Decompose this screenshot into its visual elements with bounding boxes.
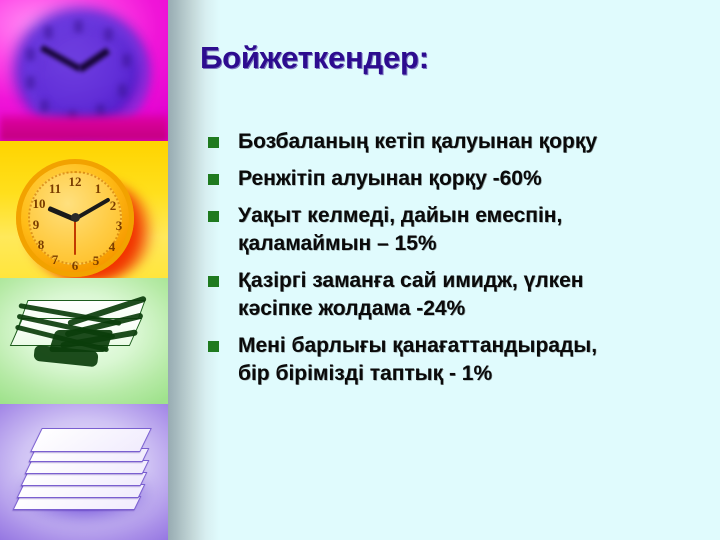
clock-numeral-4: 4 [105,240,119,254]
clock-numeral-6: 6 [68,259,82,273]
paper-sheet-5 [17,484,146,498]
clock-numeral-1: 1 [91,182,105,196]
clock-numeral-5: 5 [89,254,103,268]
green-square-bullet-icon [208,174,219,185]
list-item: Мені барлығы қанағаттандырады, бір бірім… [200,332,704,388]
bullet-list: Бозбаланың кетіп қалуынан қорқу Ренжітіп… [200,128,704,397]
list-item: Қазіргі заманға сай имидж, үлкен кәсіпке… [200,267,704,323]
green-square-bullet-icon [208,137,219,148]
list-item-line-2: бір бірімізді таптық - 1% [238,360,704,388]
list-item: Бозбаланың кетіп қалуынан қорқу [200,128,704,156]
list-item-line-1: Мені барлығы қанағаттандырады, [238,332,704,360]
green-square-bullet-icon [208,276,219,287]
clock-numeral-8: 8 [34,238,48,252]
paper-sheet-3 [25,460,150,474]
list-item-line-2: қаламаймын – 15% [238,230,704,258]
list-item-line-1: Уақыт келмеді, дайын емеспін, [238,202,704,230]
page-title: Бойжеткендер: [200,40,700,76]
clock-numeral-3: 3 [112,219,126,233]
clock-numeral-10: 10 [32,197,46,211]
photo-strip: 12 1 2 3 4 5 6 7 8 9 10 11 [0,0,168,540]
clock-numeral-9: 9 [29,218,43,232]
clock-numeral-7: 7 [48,253,62,267]
list-item-line-1: Ренжітіп алуынан қорқу -60% [238,165,704,193]
slide-canvas: 12 1 2 3 4 5 6 7 8 9 10 11 [0,0,720,540]
paper-sheet-1 [30,428,152,452]
list-item: Уақыт келмеді, дайын емеспін, қаламаймын… [200,202,704,258]
clock-numeral-11: 11 [48,182,62,196]
slide-content: Бойжеткендер: Бозбаланың кетіп қалуынан … [196,0,708,540]
clock-numeral-12: 12 [68,175,82,189]
violet-wall-clock-photo [0,0,168,141]
green-open-book-photo [0,278,168,404]
list-item-line-1: Қазіргі заманға сай имидж, үлкен [238,267,704,295]
list-item-line-1: Бозбаланың кетіп қалуынан қорқу [238,128,704,156]
yellow-clock-second-hand [74,219,76,255]
paper-sheet-6 [13,496,142,510]
green-square-bullet-icon [208,341,219,352]
yellow-desk-clock-photo: 12 1 2 3 4 5 6 7 8 9 10 11 [0,141,168,278]
violet-paper-stack-photo [0,404,168,540]
violet-clock-bottom-band [0,111,168,141]
paper-sheet-4 [21,472,148,486]
yellow-clock-center-pin [71,213,80,222]
list-item-line-2: кәсіпке жолдама -24% [238,295,704,323]
list-item: Ренжітіп алуынан қорқу -60% [200,165,704,193]
green-square-bullet-icon [208,211,219,222]
